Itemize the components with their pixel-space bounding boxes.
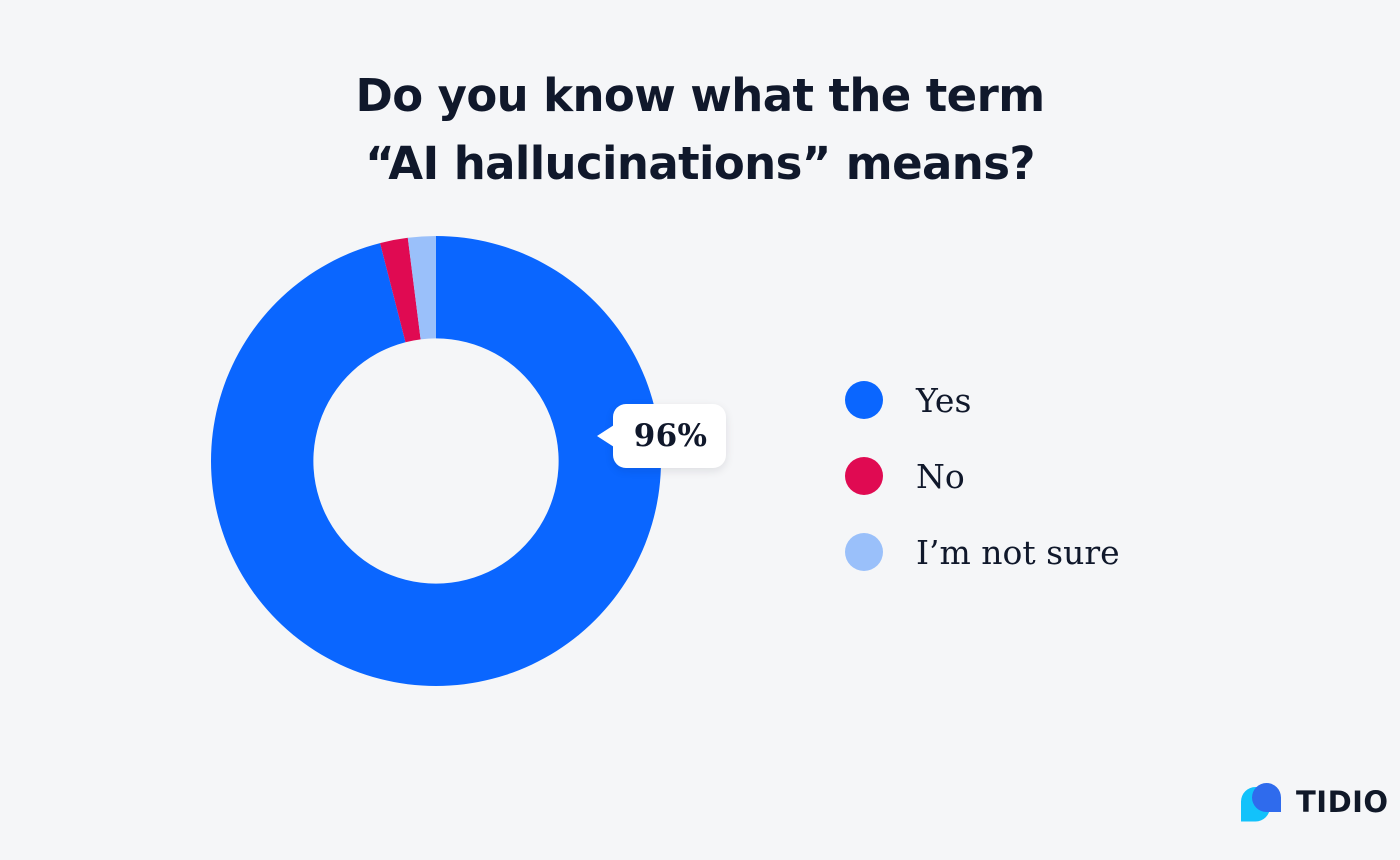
callout-value: 96% (632, 421, 708, 452)
chart-legend: Yes No I’m not sure (845, 362, 1275, 590)
donut-chart-svg (206, 231, 666, 691)
legend-item-label: No (916, 460, 965, 493)
legend-dot-icon (845, 533, 883, 571)
legend-item-yes[interactable]: Yes (845, 362, 1275, 438)
tidio-logo-icon (1238, 780, 1284, 824)
donut-chart (206, 231, 666, 691)
legend-item-label: Yes (916, 384, 971, 417)
legend-item-no[interactable]: No (845, 438, 1275, 514)
callout-bubble: 96% (613, 404, 726, 468)
legend-dot-icon (845, 381, 883, 419)
brand-logo: TIDIO (1238, 779, 1389, 825)
legend-item-im-not-sure[interactable]: I’m not sure (845, 514, 1275, 590)
page-title: Do you know what the term “AI hallucinat… (0, 62, 1400, 198)
donut-slices (211, 236, 661, 686)
callout-tail-icon (597, 425, 614, 447)
legend-item-label: I’m not sure (916, 536, 1120, 569)
brand-wordmark: TIDIO (1296, 788, 1389, 817)
donut-slice[interactable] (211, 236, 661, 686)
legend-dot-icon (845, 457, 883, 495)
